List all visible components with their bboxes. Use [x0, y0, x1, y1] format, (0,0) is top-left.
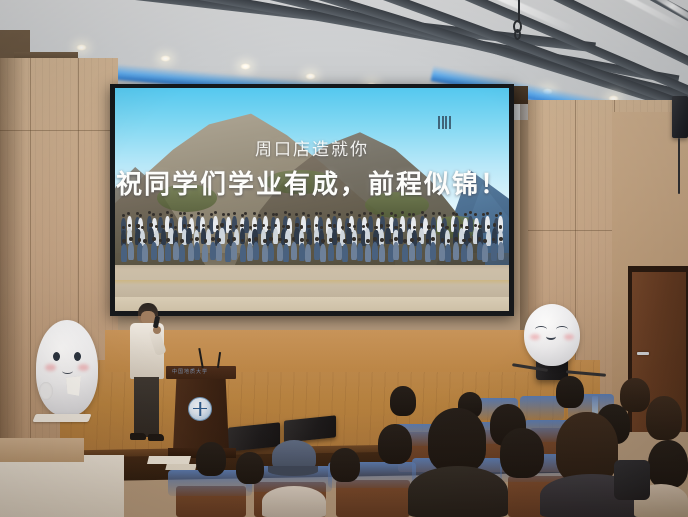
slide-person [247, 243, 253, 261]
slide-person-head [464, 213, 467, 216]
ceiling-downlight [160, 55, 171, 62]
slide-person-head [190, 214, 193, 217]
slide-person-head [263, 239, 267, 243]
papers-on-stage [147, 456, 191, 464]
audience-head [620, 378, 650, 412]
slide-person-head [366, 239, 370, 243]
slide-person-head [487, 225, 490, 228]
slide-person [165, 243, 171, 261]
slide-person [365, 244, 371, 262]
slide-person-head [346, 213, 349, 216]
slide-person-head [353, 225, 356, 228]
slide-person-head [278, 238, 282, 242]
slide-person-head [275, 213, 278, 216]
slide-person-head [210, 213, 213, 216]
slide-person-head [159, 213, 162, 216]
slide-person-head [143, 239, 147, 243]
slide-person-head [478, 237, 482, 241]
slide-person-head [244, 212, 247, 215]
slide-person [409, 243, 415, 261]
presenter-shoe [130, 433, 146, 440]
ceiling-downlight [76, 44, 87, 51]
slide-person [121, 244, 127, 262]
slide-person-head [267, 226, 270, 229]
slide-person-head [235, 225, 238, 228]
slide-person-head [420, 223, 423, 226]
slide-person-head [229, 225, 232, 228]
slide-group-photo [121, 211, 505, 269]
slide-person-head [232, 237, 236, 241]
slide-person-head [394, 237, 398, 241]
slide-person-head [447, 239, 451, 243]
slide-person-head [300, 238, 304, 242]
university-emblem-icon [188, 397, 212, 421]
slide-person-head [394, 226, 397, 229]
slide-person-head [352, 237, 356, 241]
slide-person [273, 228, 278, 244]
slide-person [240, 244, 246, 262]
slide-person-head [129, 237, 133, 241]
slide-person-head [432, 212, 435, 215]
slide-person-head [366, 223, 369, 226]
slide-person-head [183, 212, 186, 215]
slide-person-head [274, 224, 277, 227]
slide-person-head [347, 223, 350, 226]
ceiling-hook-icon [514, 29, 521, 40]
slide-person-head [284, 211, 287, 214]
audience-head [330, 448, 360, 482]
slide-person-head [227, 213, 230, 216]
audience-head [556, 376, 584, 408]
slide-person-head [465, 226, 468, 229]
slide-person-head [469, 211, 472, 214]
slide-person-head [341, 226, 344, 229]
slide-person-head [413, 226, 416, 229]
slide-person [379, 244, 385, 262]
slide-person-head [499, 225, 502, 228]
slide-person-head [319, 212, 322, 215]
slide-person [314, 242, 320, 260]
slide-person [416, 242, 422, 260]
slide-person-head [350, 211, 353, 214]
slide-person-head [455, 213, 458, 216]
slide-person-head [408, 213, 411, 216]
slide-person-head [148, 211, 151, 214]
slide-person-head [139, 214, 142, 217]
stage-step [0, 455, 124, 517]
slide-person [445, 244, 451, 262]
slide-person-head [214, 211, 217, 214]
slide-person [142, 244, 148, 262]
slide-person-head [380, 238, 384, 242]
slide-person [291, 242, 297, 260]
audience-shoulders [262, 486, 326, 517]
slide-person-head [149, 223, 152, 226]
projection-screen: 周口店造就你 祝同学们学业有成，前程似锦！ [115, 88, 509, 311]
slide-person-head [443, 214, 446, 217]
slide-person-head [386, 224, 389, 227]
slide-person-head [474, 213, 477, 216]
slide-person-head [288, 213, 291, 216]
slide-person-head [417, 237, 421, 241]
slide-person-head [136, 224, 139, 227]
slide-person [486, 230, 491, 246]
slide-person-head [166, 211, 169, 214]
slide-person [161, 229, 166, 245]
slide-person-head [315, 224, 318, 227]
ceiling-downlight [305, 73, 316, 80]
slide-person-head [258, 214, 261, 217]
speaker-cable [678, 138, 680, 194]
slide-person-head [292, 237, 296, 241]
slide-person-head [321, 239, 325, 243]
mascot-held-paper [66, 376, 81, 396]
slide-person [320, 244, 326, 262]
slide-person-head [315, 237, 319, 241]
slide-person-head [478, 225, 481, 228]
slide-person-head [217, 238, 221, 242]
slide-person [194, 242, 200, 260]
slide-person-head [272, 213, 275, 216]
slide-person-head [166, 238, 170, 242]
slide-person [498, 242, 504, 260]
slide-person-head [175, 237, 179, 241]
presenter-legs [134, 377, 159, 437]
slide-person-head [468, 238, 472, 242]
auditorium-scene: 周口店造就你 祝同学们学业有成，前程似锦！ [0, 0, 688, 517]
slide-person-head [441, 238, 445, 242]
slide-person-head [410, 238, 414, 242]
slide-person-head [486, 212, 489, 215]
slide-person-head [170, 214, 173, 217]
ceiling-hook-cable [518, 0, 520, 22]
stage-step-upper [0, 438, 84, 462]
slide-person-head [377, 214, 380, 217]
slide-person-head [431, 237, 435, 241]
slide-person-head [401, 211, 404, 214]
cap-brim-icon [268, 466, 318, 476]
slide-person [151, 242, 157, 260]
slide-person-head [394, 214, 397, 217]
slide-person [158, 244, 164, 262]
audience-head [646, 396, 682, 440]
slide-watermark-icon [438, 116, 451, 129]
slide-person-head [307, 214, 310, 217]
slide-person-head [122, 239, 126, 243]
audience-head [648, 440, 688, 488]
slide-person [430, 242, 436, 260]
slide-person-head [358, 214, 361, 217]
slide-person-head [204, 239, 208, 243]
slide-person-head [286, 225, 289, 228]
slide-person-head [438, 212, 441, 215]
slide-person [277, 243, 283, 261]
slide-person-head [329, 238, 333, 242]
slide-person-head [390, 212, 393, 215]
slide-person-head [343, 239, 347, 243]
audience-head [196, 442, 226, 476]
slide-person-head [295, 223, 298, 226]
wall-speaker-icon [672, 96, 688, 138]
slide-person-head [403, 239, 407, 243]
slide-person-head [495, 214, 498, 217]
backpack [614, 460, 650, 500]
slide-person-head [307, 225, 310, 228]
slide-person-head [499, 212, 502, 215]
slide-person-head [328, 224, 331, 227]
slide-person-head [190, 238, 194, 242]
slide-person-head [284, 239, 288, 243]
ceiling-downlight [240, 63, 251, 70]
slide-person-head [227, 239, 231, 243]
slide-person-head [180, 239, 184, 243]
slide-person-head [374, 226, 377, 229]
slide-person-head [254, 237, 258, 241]
slide-person-head [427, 225, 430, 228]
slide-person-head [338, 213, 341, 216]
slide-person [467, 243, 473, 261]
slide-person-head [222, 213, 225, 216]
slide-person-head [482, 213, 485, 216]
slide-person-head [333, 224, 336, 227]
slide-person [307, 229, 312, 245]
slide-person-head [454, 237, 458, 241]
audience-head [236, 452, 264, 484]
slide-person [268, 243, 274, 261]
slide-person-head [127, 212, 130, 215]
slide-person [179, 244, 185, 262]
slide-person-head [302, 212, 305, 215]
slide-person [328, 243, 334, 261]
slide-person-head [327, 214, 330, 217]
slide-person [453, 242, 459, 260]
slide-person-head [424, 214, 427, 217]
slide-person [372, 242, 378, 260]
slide-person-head [220, 223, 223, 226]
slide-person [379, 229, 384, 245]
slide-person-head [201, 213, 204, 216]
slide-person [342, 244, 348, 262]
slide-person-head [233, 212, 236, 215]
slide-person-head [412, 213, 415, 216]
slide-person-head [499, 237, 503, 241]
slide-person [482, 244, 488, 262]
slide-person-head [493, 223, 496, 226]
door-handle-icon[interactable] [637, 352, 649, 355]
audience-head [500, 428, 544, 478]
slide-person [346, 228, 351, 244]
slide-person-head [369, 212, 372, 215]
slide-person-head [363, 212, 366, 215]
slide-person-head [179, 212, 182, 215]
slide-person-head [183, 224, 186, 227]
slide-person-head [211, 237, 215, 241]
slide-person-head [269, 237, 273, 241]
audience-head [378, 424, 412, 464]
slide-person [186, 228, 191, 244]
slide-person-head [295, 213, 298, 216]
audience-head [390, 386, 416, 416]
slide-person-head [408, 224, 411, 227]
slide-person [393, 242, 399, 260]
slide-person-head [264, 212, 267, 215]
slide-person-head [253, 224, 256, 227]
slide-person-head [187, 224, 190, 227]
slide-person-head [333, 211, 336, 214]
slide-person [402, 244, 408, 262]
slide-person-head [197, 212, 200, 215]
slide-person-head [240, 224, 243, 227]
slide-person [231, 242, 237, 260]
slide-person [202, 244, 208, 262]
slide-person-head [381, 212, 384, 215]
slide-person [283, 244, 289, 262]
slide-person-head [421, 211, 424, 214]
podium-institution-label: 中国地质大学 [172, 368, 208, 375]
slide-person-head [483, 239, 487, 243]
slide-person-head [389, 239, 393, 243]
slide-person-head [141, 226, 144, 229]
slide-person [253, 242, 259, 260]
slide-person [492, 228, 497, 244]
slide-person [128, 242, 134, 260]
slide-person-head [216, 225, 219, 228]
slide-person-head [152, 237, 156, 241]
slide-person [357, 243, 363, 261]
slide-person-head [152, 213, 155, 216]
slide-person [305, 244, 311, 262]
slide-person-head [373, 237, 377, 241]
slide-person-head [445, 226, 448, 229]
slide-person-head [161, 225, 164, 228]
slide-person-head [380, 224, 383, 227]
slide-person-head [122, 214, 125, 217]
slide-person [336, 242, 342, 260]
slide-person [210, 242, 216, 260]
mascot-base [32, 414, 91, 422]
slide-person [216, 243, 222, 261]
slide-person-head [320, 226, 323, 229]
presenter-shoe [148, 434, 164, 441]
slide-person-head [253, 212, 256, 215]
slide-person [351, 242, 357, 260]
slide-person-head [315, 212, 318, 215]
slide-person-head [174, 226, 177, 229]
slide-person [491, 243, 497, 261]
slide-person-head [195, 237, 199, 241]
slide-person-head [138, 238, 142, 242]
